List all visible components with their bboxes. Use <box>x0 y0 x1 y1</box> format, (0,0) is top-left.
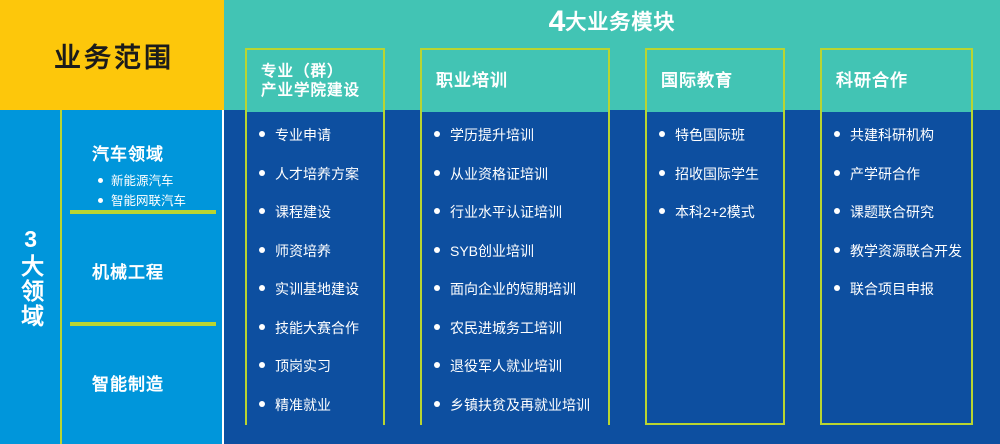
module-card-title-line1: 专业（群） <box>261 62 360 81</box>
module-item-list: 共建科研机构 产学研合作 课题联合研究 教学资源联合开发 联合项目申报 <box>834 125 965 299</box>
module-item-list: 专业申请 人才培养方案 课程建设 师资培养 实训基地建设 技能大赛合作 顶岗实习… <box>259 125 377 415</box>
list-item: 本科2+2模式 <box>659 202 777 222</box>
module-card-industry-college[interactable]: 专业（群） 产业学院建设 专业申请 人才培养方案 课程建设 师资培养 实训基地建… <box>245 48 385 425</box>
list-item: 行业水平认证培训 <box>434 202 602 222</box>
list-item: 产学研合作 <box>834 164 965 184</box>
module-item-list: 学历提升培训 从业资格证培训 行业水平认证培训 SYB创业培训 面向企业的短期培… <box>434 125 602 415</box>
module-card-title-line1: 职业培训 <box>436 70 508 91</box>
domains-vertical-text: 3大领域 <box>17 226 42 329</box>
list-item: 从业资格证培训 <box>434 164 602 184</box>
list-item: 精准就业 <box>259 395 377 415</box>
module-card-title: 职业培训 <box>422 70 508 91</box>
module-card-header: 职业培训 <box>422 50 608 112</box>
domain-item-automotive[interactable]: 汽车领域 新能源汽车 智能网联汽车 <box>70 114 216 212</box>
module-card-header: 国际教育 <box>647 50 783 112</box>
domains-panel: 3大领域 汽车领域 新能源汽车 智能网联汽车 机械工程 智能制造 <box>0 110 224 444</box>
module-card-body: 学历提升培训 从业资格证培训 行业水平认证培训 SYB创业培训 面向企业的短期培… <box>422 112 608 441</box>
list-item: 技能大赛合作 <box>259 318 377 338</box>
list-item: 特色国际班 <box>659 125 777 145</box>
list-item: 师资培养 <box>259 241 377 261</box>
module-card-header: 科研合作 <box>822 50 971 112</box>
module-card-research-cooperation[interactable]: 科研合作 共建科研机构 产学研合作 课题联合研究 教学资源联合开发 联合项目申报 <box>820 48 973 425</box>
domain-sub-list: 新能源汽车 智能网联汽车 <box>70 165 216 211</box>
infographic-root: 业务范围 4大业务模块 3大领域 汽车领域 新能源汽车 智能网联汽车 机械工程 … <box>0 0 1000 444</box>
domain-item-mechanical[interactable]: 机械工程 <box>70 212 216 324</box>
module-card-body: 特色国际班 招收国际学生 本科2+2模式 <box>647 112 783 249</box>
module-card-title: 国际教育 <box>647 70 733 91</box>
list-item: 农民进城务工培训 <box>434 318 602 338</box>
scope-header: 业务范围 <box>0 0 224 110</box>
module-item-list: 特色国际班 招收国际学生 本科2+2模式 <box>659 125 777 222</box>
list-item: 实训基地建设 <box>259 279 377 299</box>
domain-title: 汽车领域 <box>70 114 216 165</box>
scope-title: 业务范围 <box>50 36 174 75</box>
domain-title: 机械工程 <box>70 214 216 283</box>
module-card-title-line1: 国际教育 <box>661 70 733 91</box>
list-item: 退役军人就业培训 <box>434 356 602 376</box>
list-item: 专业申请 <box>259 125 377 145</box>
domain-title: 智能制造 <box>70 326 216 395</box>
module-card-title-line2: 产业学院建设 <box>261 81 360 100</box>
list-item: 联合项目申报 <box>834 279 965 299</box>
domain-sub-item: 智能网联汽车 <box>98 191 216 211</box>
list-item: 学历提升培训 <box>434 125 602 145</box>
domain-sub-item: 新能源汽车 <box>98 171 216 191</box>
list-item: 乡镇扶贫及再就业培训 <box>434 395 602 415</box>
list-item: 招收国际学生 <box>659 164 777 184</box>
list-item: 课程建设 <box>259 202 377 222</box>
list-item: SYB创业培训 <box>434 241 602 261</box>
module-card-body: 共建科研机构 产学研合作 课题联合研究 教学资源联合开发 联合项目申报 <box>822 112 971 326</box>
module-card-international-education[interactable]: 国际教育 特色国际班 招收国际学生 本科2+2模式 <box>645 48 785 425</box>
list-item: 人才培养方案 <box>259 164 377 184</box>
modules-banner-title: 4大业务模块 <box>224 5 1000 39</box>
domains-vertical-label: 3大领域 <box>0 110 62 444</box>
module-card-title: 科研合作 <box>822 70 908 91</box>
list-item: 顶岗实习 <box>259 356 377 376</box>
module-card-title-line1: 科研合作 <box>836 70 908 91</box>
list-item: 共建科研机构 <box>834 125 965 145</box>
module-card-header: 专业（群） 产业学院建设 <box>247 50 383 112</box>
domain-item-smart-manufacturing[interactable]: 智能制造 <box>70 324 216 436</box>
list-item: 教学资源联合开发 <box>834 241 965 261</box>
module-card-body: 专业申请 人才培养方案 课程建设 师资培养 实训基地建设 技能大赛合作 顶岗实习… <box>247 112 383 441</box>
modules-label: 大业务模块 <box>565 11 675 34</box>
module-card-vocational-training[interactable]: 职业培训 学历提升培训 从业资格证培训 行业水平认证培训 SYB创业培训 面向企… <box>420 48 610 425</box>
module-card-title: 专业（群） 产业学院建设 <box>247 62 360 101</box>
list-item: 面向企业的短期培训 <box>434 279 602 299</box>
domain-list: 汽车领域 新能源汽车 智能网联汽车 机械工程 智能制造 <box>62 110 222 444</box>
modules-count: 4 <box>549 5 566 38</box>
list-item: 课题联合研究 <box>834 202 965 222</box>
